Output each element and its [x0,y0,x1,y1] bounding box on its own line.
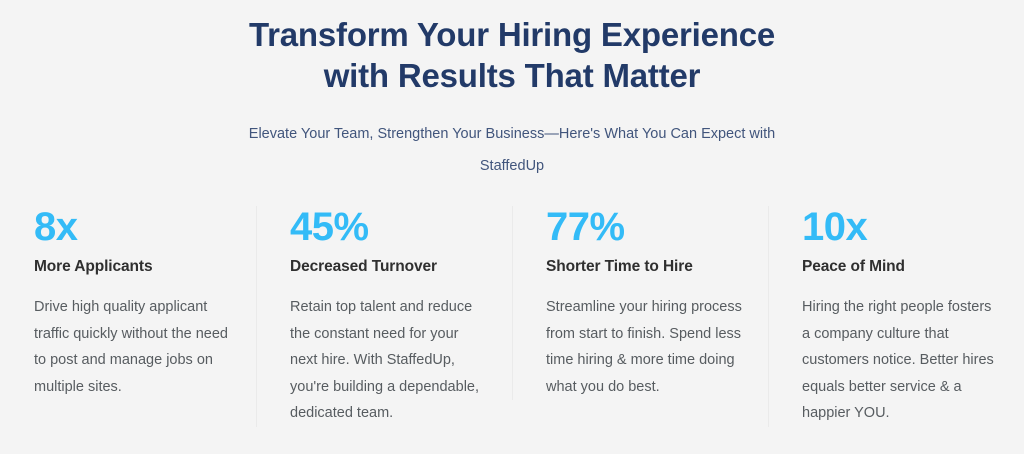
stat-description: Retain top talent and reduce the constan… [290,294,486,427]
stat-title: More Applicants [34,256,230,278]
stat-number: 8x [34,204,230,250]
stat-number: 10x [802,204,998,250]
page-title-line-1: Transform Your Hiring Experience [60,14,964,55]
stat-description: Drive high quality applicant traffic qui… [34,294,230,400]
stats-row: 8x More Applicants Drive high quality ap… [0,204,1024,427]
page-subtitle: Elevate Your Team, Strengthen Your Busin… [232,118,792,182]
stat-title: Shorter Time to Hire [546,256,742,278]
page-title: Transform Your Hiring Experience with Re… [60,14,964,96]
stat-description: Hiring the right people fosters a compan… [802,294,998,427]
stat-number: 77% [546,204,742,250]
stat-title: Decreased Turnover [290,256,486,278]
stat-card-shorter-time-to-hire: 77% Shorter Time to Hire Streamline your… [512,204,768,400]
stat-description: Streamline your hiring process from star… [546,294,742,400]
page-title-line-2: with Results That Matter [60,55,964,96]
heading-block: Transform Your Hiring Experience with Re… [0,14,1024,182]
stat-card-peace-of-mind: 10x Peace of Mind Hiring the right peopl… [768,204,1024,427]
stat-card-decreased-turnover: 45% Decreased Turnover Retain top talent… [256,204,512,427]
stat-card-more-applicants: 8x More Applicants Drive high quality ap… [0,204,256,400]
hiring-results-section: Transform Your Hiring Experience with Re… [0,0,1024,454]
stat-title: Peace of Mind [802,256,998,278]
stat-number: 45% [290,204,486,250]
